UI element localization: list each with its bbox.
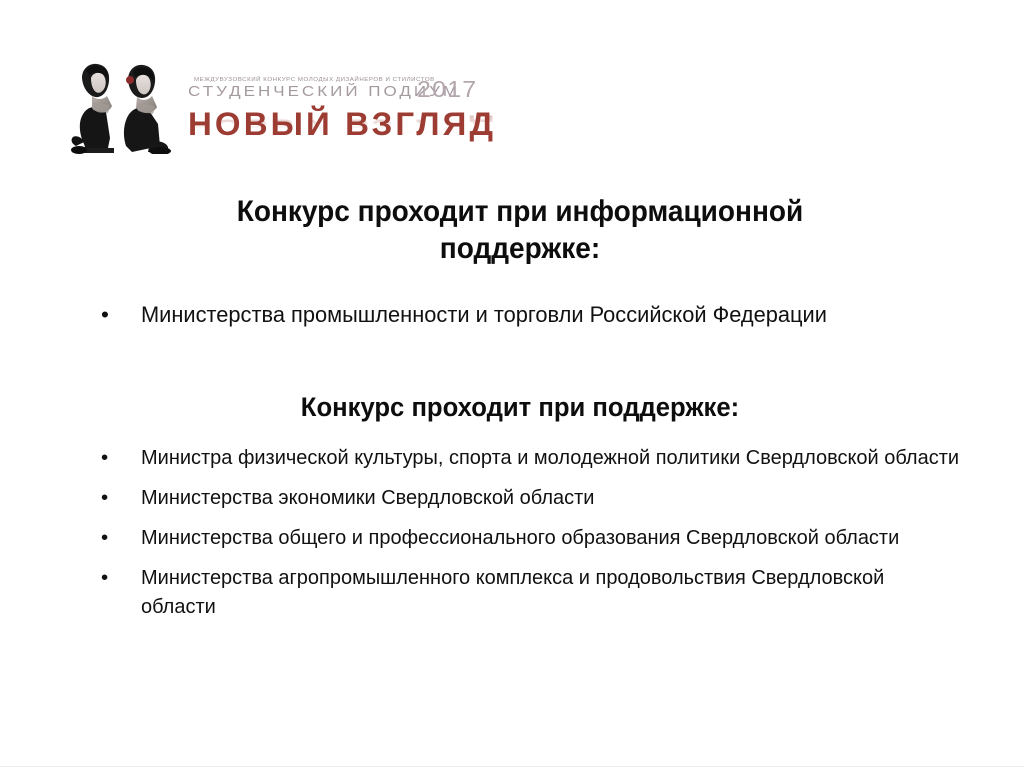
support-heading: Конкурс проходит при поддержке: — [169, 391, 872, 423]
bullet-icon: • — [101, 563, 113, 592]
information-support-list: • Министерства промышленности и торговли… — [101, 299, 961, 330]
logo-year-text: 2017 — [417, 77, 477, 104]
slide-canvas: МЕЖДУВУЗОВСКИЙ КОНКУРС МОЛОДЫХ ДИЗАЙНЕРО… — [0, 0, 1024, 767]
bullet-icon: • — [101, 483, 113, 512]
logo-wordmark: МЕЖДУВУЗОВСКИЙ КОНКУРС МОЛОДЫХ ДИЗАЙНЕРО… — [188, 76, 488, 160]
bullet-icon: • — [101, 523, 113, 552]
logo-models-photo — [62, 58, 180, 158]
logo-title-text: НОВЫЙ ВЗГЛЯД — [188, 106, 496, 143]
bullet-icon: • — [101, 443, 113, 472]
list-item: • Министерства промышленности и торговли… — [101, 299, 961, 330]
list-item: • Министерства агропромышленного комплек… — [101, 563, 981, 621]
list-item-label: Министерства общего и профессионального … — [141, 523, 960, 552]
bullet-icon: • — [101, 299, 113, 330]
logo-kicker-text: МЕЖДУВУЗОВСКИЙ КОНКУРС МОЛОДЫХ ДИЗАЙНЕРО… — [194, 76, 435, 83]
event-logo: МЕЖДУВУЗОВСКИЙ КОНКУРС МОЛОДЫХ ДИЗАЙНЕРО… — [62, 56, 492, 160]
list-item-label: Министерства промышленности и торговли Р… — [141, 299, 936, 330]
information-support-heading: Конкурс проходит при информационной подд… — [169, 193, 872, 267]
list-item: • Министра физической культуры, спорта и… — [101, 443, 981, 472]
list-item-label: Министерства агропромышленного комплекса… — [141, 563, 960, 621]
list-item-label: Министерства экономики Свердловской обла… — [141, 483, 960, 512]
list-item: • Министерства экономики Свердловской об… — [101, 483, 981, 512]
list-item: • Министерства общего и профессиональног… — [101, 523, 981, 552]
list-item-label: Министра физической культуры, спорта и м… — [141, 443, 960, 472]
support-list: • Министра физической культуры, спорта и… — [101, 443, 981, 621]
